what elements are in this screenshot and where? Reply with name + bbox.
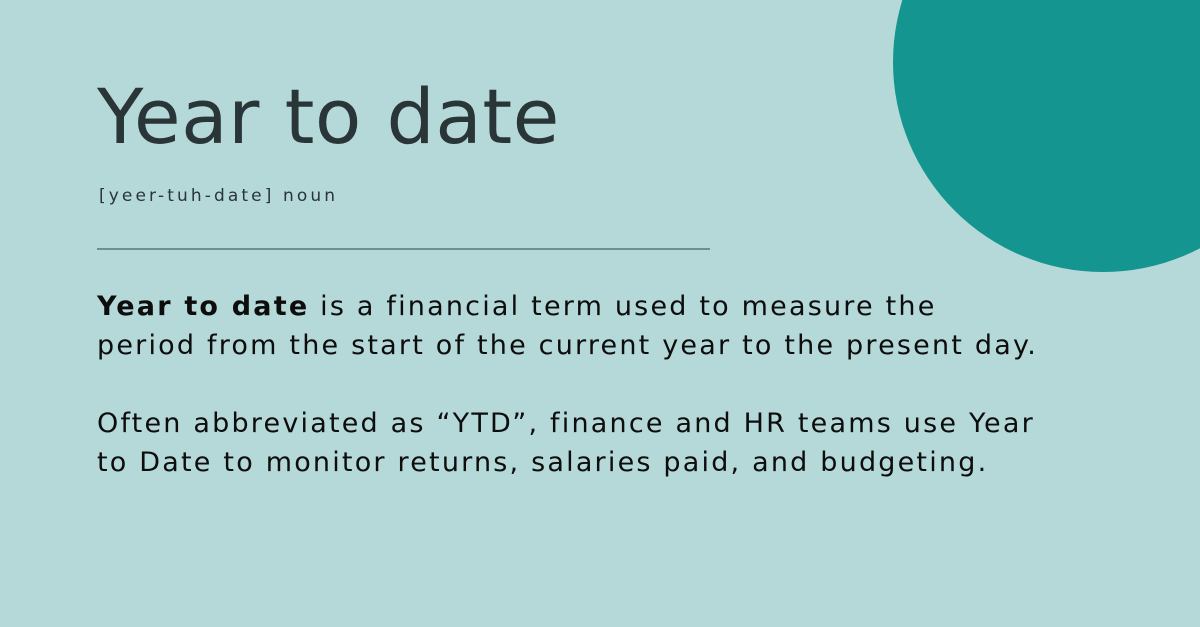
definition-block: Year to date is a financial term used to… (97, 288, 1042, 482)
definition-card: Year to date [yeer-tuh-date] noun Year t… (0, 0, 1200, 627)
card-content: Year to date [yeer-tuh-date] noun Year t… (97, 0, 1097, 627)
definition-paragraph-primary: Year to date is a financial term used to… (97, 288, 1042, 365)
page-title: Year to date (97, 72, 560, 162)
definition-paragraph-secondary: Often abbreviated as “YTD”, finance and … (97, 405, 1042, 482)
divider (97, 248, 710, 250)
pronunciation-label: [yeer-tuh-date] noun (99, 184, 338, 208)
definition-lead-term: Year to date (97, 291, 309, 322)
